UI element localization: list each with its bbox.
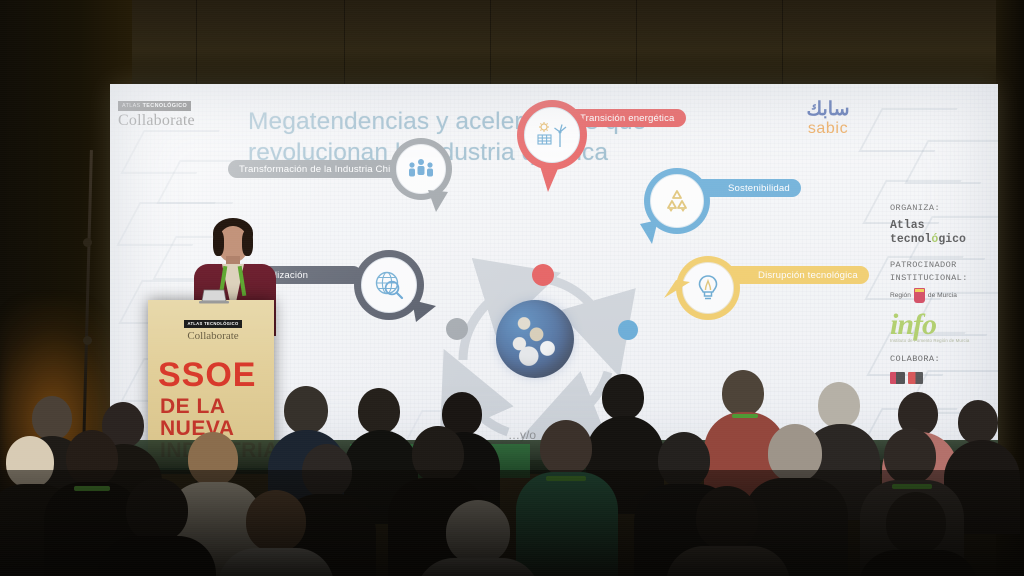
ring-dot-china bbox=[446, 318, 468, 340]
stage-floor-band bbox=[110, 440, 998, 474]
podium-brand-logo: ATLAS TECNOLÓGICO Collaborate bbox=[176, 312, 250, 342]
wall-upper-band bbox=[0, 0, 1024, 92]
node-label-transicion-text: Transición energética bbox=[580, 113, 675, 124]
node-label-sostenibilidad-text: Sostenibilidad bbox=[728, 183, 790, 194]
patrocinador-label-2: INSTITUCIONAL: bbox=[890, 272, 994, 284]
organiza-label: ORGANIZA: bbox=[890, 202, 994, 214]
podium-headline: SSOE bbox=[158, 360, 268, 391]
organiza-line-2b: gico bbox=[938, 233, 966, 246]
ring-dot-sostenibilidad bbox=[618, 320, 638, 340]
node-label-china-text: Transformación de la Industria China bbox=[239, 164, 401, 175]
node-tail-sostenibilidad bbox=[632, 220, 660, 246]
podium-tag-prefix: ATLAS bbox=[187, 321, 202, 326]
podium-tag-suffix: TECNOLÓGICO bbox=[204, 321, 238, 326]
podium-laptop-icon bbox=[196, 288, 232, 308]
globe-search-icon bbox=[373, 270, 405, 300]
organiza-line-1: Atlas bbox=[890, 219, 994, 233]
node-tail-globalizacion bbox=[410, 300, 442, 326]
murcia-text-right: de Murcia bbox=[928, 292, 957, 299]
patrocinador-label-1: PATROCINADOR bbox=[890, 259, 994, 271]
foreground-shadow bbox=[0, 470, 1024, 576]
recycle-icon bbox=[663, 188, 691, 214]
solar-wind-icon bbox=[535, 122, 569, 148]
podium-brand-word: Collaborate bbox=[176, 330, 250, 342]
organiza-logo: Atlas tecnológico bbox=[890, 219, 994, 247]
podium-brand-tag: ATLAS TECNOLÓGICO bbox=[184, 320, 241, 328]
murcia-text-left: Región bbox=[890, 292, 911, 299]
node-tail-disrupcion bbox=[662, 280, 692, 306]
node-label-disrupcion-text: Disrupción tecnológica bbox=[758, 270, 858, 281]
murcia-shield-icon bbox=[914, 288, 925, 303]
conference-photo-scene: ATLAS TECNOLÓGICO Collaborate Megatenden… bbox=[0, 0, 1024, 576]
colabora-logo-1 bbox=[890, 372, 905, 384]
node-tail-china bbox=[426, 190, 456, 214]
node-tail-transicion bbox=[538, 164, 564, 194]
lightbulb-icon bbox=[696, 274, 720, 302]
region-de-murcia-logo: Región de Murcia bbox=[890, 288, 994, 303]
colabora-logo-2 bbox=[908, 372, 923, 384]
organiza-line-2a: tecnol bbox=[890, 233, 931, 246]
colabora-logos bbox=[890, 372, 994, 384]
podium-subline-1: DE LA NUEVA bbox=[160, 396, 272, 440]
earth-globe-icon bbox=[496, 300, 574, 378]
ring-dot-transicion bbox=[532, 264, 554, 286]
sponsor-rail: ORGANIZA: Atlas tecnológico PATROCINADOR… bbox=[890, 202, 994, 384]
node-bubble-transicion bbox=[517, 100, 587, 170]
info-logo-subtitle: Instituto de Fomento Región de Murcia bbox=[890, 338, 994, 343]
people-group-icon bbox=[407, 158, 435, 180]
info-logo: info bbox=[890, 311, 994, 340]
colabora-label: COLABORA: bbox=[890, 353, 994, 365]
